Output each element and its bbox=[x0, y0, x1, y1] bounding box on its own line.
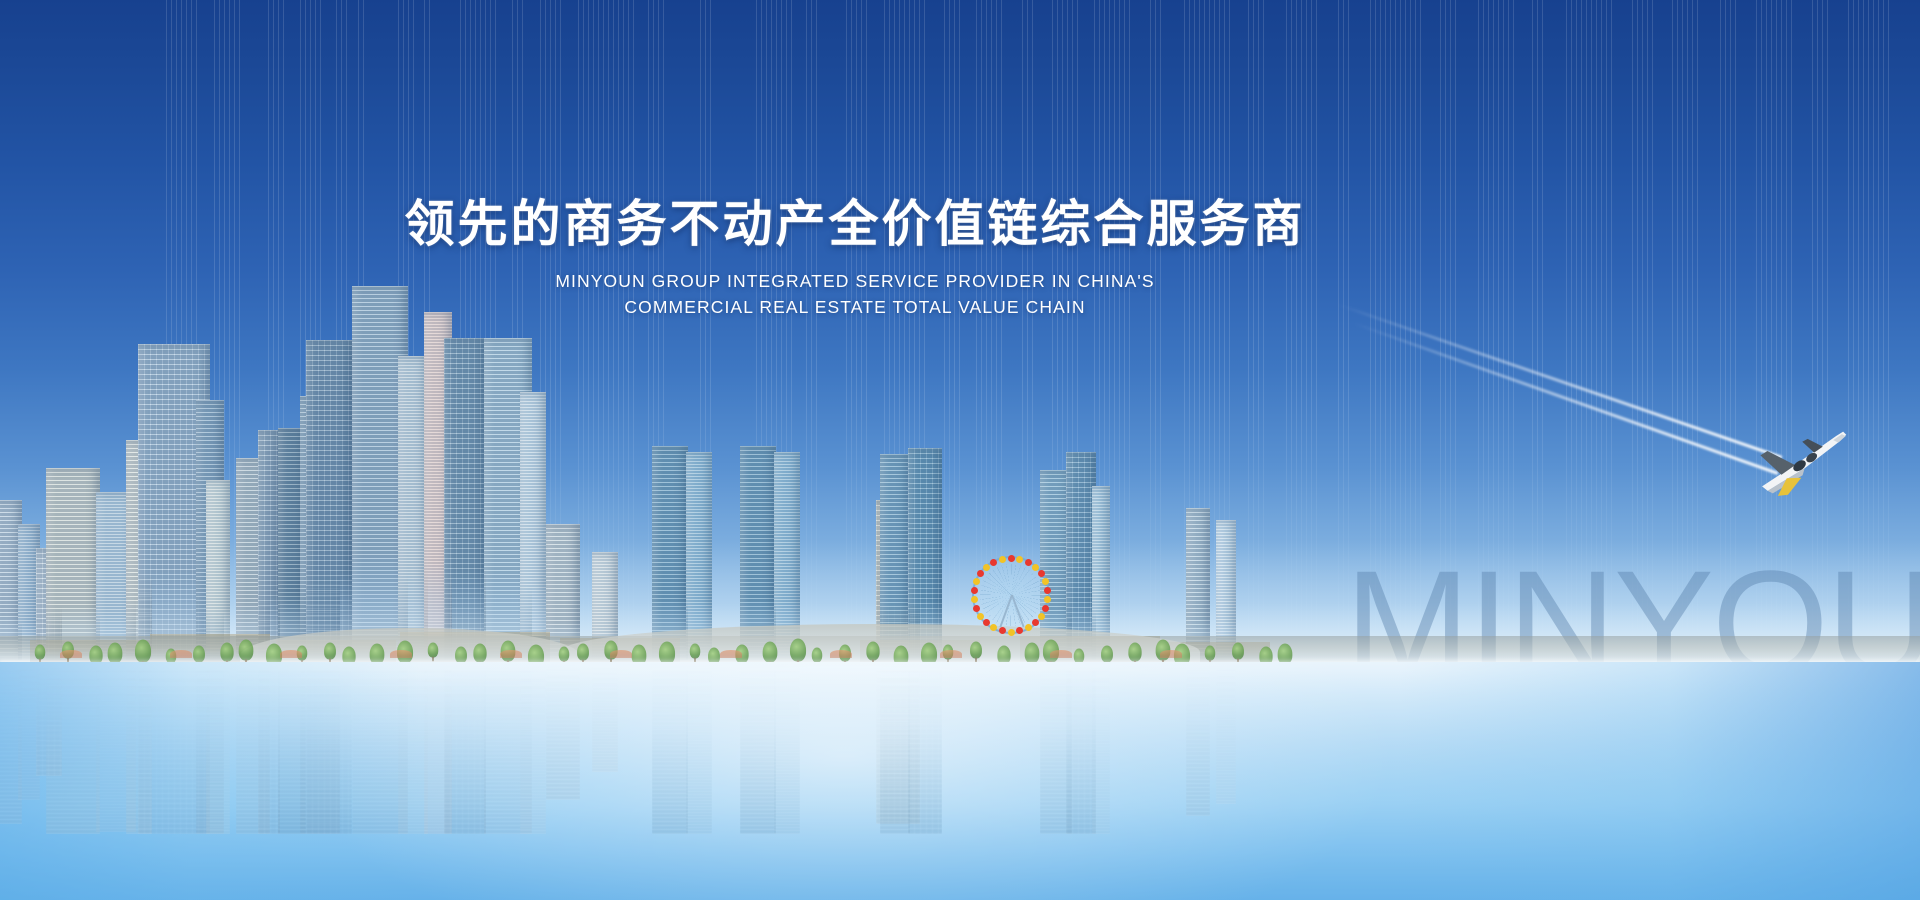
ferris-wheel-pod bbox=[1025, 559, 1032, 566]
building-reflection bbox=[880, 664, 910, 834]
ferris-wheel-pod bbox=[1016, 627, 1023, 634]
plaza-canopy bbox=[170, 650, 192, 658]
ferris-wheel-pod bbox=[1042, 605, 1049, 612]
plaza-canopy bbox=[60, 650, 82, 658]
plaza-canopy bbox=[830, 650, 852, 658]
ferris-wheel-pod bbox=[973, 605, 980, 612]
building-reflection bbox=[774, 664, 800, 834]
ferris-wheel-pod bbox=[1038, 613, 1045, 620]
tree bbox=[690, 644, 701, 659]
tower-curve-glass bbox=[444, 338, 486, 660]
building-reflection bbox=[686, 664, 712, 834]
plaza-canopy bbox=[610, 650, 632, 658]
building-reflection bbox=[306, 664, 352, 834]
ferris-wheel bbox=[972, 556, 1050, 634]
building-reflection bbox=[520, 664, 546, 834]
twin-tower-left bbox=[652, 446, 688, 660]
plaza-canopy bbox=[940, 650, 962, 658]
building-reflection bbox=[206, 664, 230, 834]
building-reflection bbox=[258, 664, 280, 834]
building-reflection bbox=[652, 664, 688, 834]
plaza-canopy bbox=[390, 650, 412, 658]
tree bbox=[1232, 643, 1244, 660]
ferris-wheel-pod bbox=[999, 556, 1006, 563]
tower-mid-left-c bbox=[258, 430, 280, 660]
tower-mid-left-a bbox=[206, 480, 230, 660]
ferris-wheel-pod bbox=[971, 596, 978, 603]
tower-right-b bbox=[520, 392, 546, 660]
ferris-wheel-pod bbox=[1032, 564, 1039, 571]
building-reflection bbox=[546, 664, 580, 800]
tree bbox=[428, 643, 439, 658]
plaza-canopy bbox=[1050, 650, 1072, 658]
ferris-wheel-pod bbox=[1032, 619, 1039, 626]
plaza-canopy bbox=[1160, 650, 1182, 658]
building-reflection bbox=[46, 664, 100, 834]
building-reflection bbox=[908, 664, 942, 834]
tree bbox=[970, 642, 982, 659]
ferris-wheel-pod bbox=[983, 564, 990, 571]
plaza-canopy bbox=[720, 650, 742, 658]
building-reflection bbox=[444, 664, 486, 834]
ferris-wheel-pod bbox=[971, 587, 978, 594]
ferris-wheel-pod bbox=[1025, 624, 1032, 631]
building-reflection bbox=[1216, 664, 1236, 804]
building-reflection bbox=[740, 664, 776, 834]
ferris-wheel-pod bbox=[1008, 555, 1015, 562]
building-reflection bbox=[592, 664, 618, 772]
ferris-wheel-pod bbox=[977, 613, 984, 620]
ferris-wheel-pod bbox=[1008, 629, 1015, 636]
ferris-wheel-pod bbox=[990, 559, 997, 566]
banner-hero: MINYOUN 领先的商务不 bbox=[0, 0, 1920, 900]
tower-center-b bbox=[306, 340, 352, 660]
ferris-wheel-pod bbox=[1016, 556, 1023, 563]
plaza-canopy bbox=[280, 650, 302, 658]
plaza-canopy bbox=[500, 650, 522, 658]
building-reflection bbox=[1186, 664, 1210, 816]
building-reflection bbox=[1092, 664, 1110, 834]
tower-left-slab bbox=[46, 468, 100, 660]
tree bbox=[324, 643, 336, 660]
